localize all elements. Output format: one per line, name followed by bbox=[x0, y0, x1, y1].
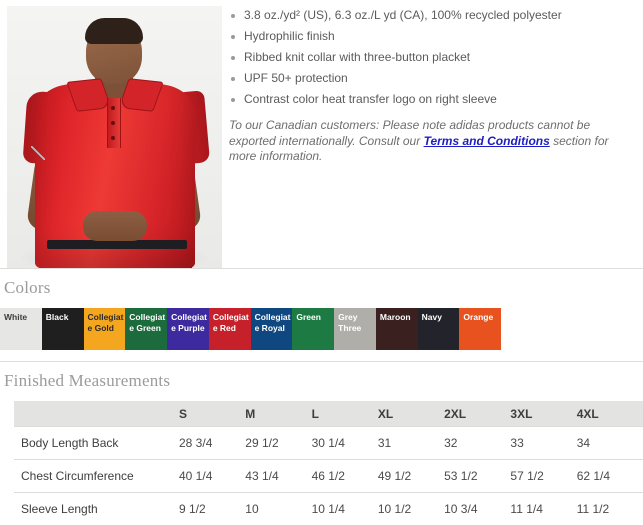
swatch-label: Collegiate Red bbox=[213, 312, 250, 333]
color-swatch-navy[interactable]: Navy bbox=[418, 308, 460, 350]
cell: 57 1/2 bbox=[510, 460, 576, 493]
swatch-label: Collegiate Green bbox=[129, 312, 166, 333]
cell: 46 1/2 bbox=[312, 460, 378, 493]
list-item: UPF 50+ protection bbox=[229, 71, 635, 86]
list-item: Ribbed knit collar with three-button pla… bbox=[229, 50, 635, 65]
color-swatch-maroon[interactable]: Maroon bbox=[376, 308, 418, 350]
row-label: Sleeve Length bbox=[14, 493, 179, 525]
color-swatch-black[interactable]: Black bbox=[42, 308, 84, 350]
swatch-label: Collegiate Purple bbox=[171, 312, 208, 333]
spacer bbox=[0, 350, 643, 361]
finished-measurements-table: S M L XL 2XL 3XL 4XL Body Length Back 28… bbox=[14, 401, 643, 525]
cell: 10 1/4 bbox=[312, 493, 378, 525]
cell: 9 1/2 bbox=[179, 493, 245, 525]
row-label: Body Length Back bbox=[14, 427, 179, 460]
column-header-l: L bbox=[312, 401, 378, 427]
cell: 33 bbox=[510, 427, 576, 460]
column-header-xl: XL bbox=[378, 401, 444, 427]
swatch-label: White bbox=[4, 312, 41, 323]
color-swatch-collegiate-royal[interactable]: Collegiate Royal bbox=[251, 308, 293, 350]
terms-and-conditions-link[interactable]: Terms and Conditions bbox=[424, 134, 550, 148]
color-swatch-collegiate-gold[interactable]: Collegiate Gold bbox=[84, 308, 126, 350]
cell: 10 bbox=[245, 493, 311, 525]
model-belt bbox=[47, 240, 187, 249]
row-label: Chest Circumference bbox=[14, 460, 179, 493]
cell: 29 1/2 bbox=[245, 427, 311, 460]
column-header-2xl: 2XL bbox=[444, 401, 510, 427]
canadian-customers-note: To our Canadian customers: Please note a… bbox=[229, 118, 635, 165]
product-image[interactable] bbox=[7, 6, 222, 268]
list-item: Hydrophilic finish bbox=[229, 29, 635, 44]
swatch-label: Grey Three bbox=[338, 312, 375, 333]
color-swatch-white[interactable]: White bbox=[0, 308, 42, 350]
cell: 30 1/4 bbox=[312, 427, 378, 460]
swatch-label: Collegiate Gold bbox=[88, 312, 125, 333]
adidas-logo-icon bbox=[31, 146, 45, 160]
color-swatch-row: White Black Collegiate Gold Collegiate G… bbox=[0, 308, 543, 350]
table-header: S M L XL 2XL 3XL 4XL bbox=[14, 401, 643, 427]
cell: 31 bbox=[378, 427, 444, 460]
color-swatch-orange[interactable]: Orange bbox=[459, 308, 501, 350]
cell: 43 1/4 bbox=[245, 460, 311, 493]
column-header-3xl: 3XL bbox=[510, 401, 576, 427]
product-overview-section: 3.8 oz./yd² (US), 6.3 oz./L yd (CA), 100… bbox=[0, 0, 643, 268]
polo-button-3 bbox=[111, 136, 115, 140]
color-swatch-grey-three[interactable]: Grey Three bbox=[334, 308, 376, 350]
table-row: Sleeve Length 9 1/2 10 10 1/4 10 1/2 10 … bbox=[14, 493, 643, 525]
feature-list: 3.8 oz./yd² (US), 6.3 oz./L yd (CA), 100… bbox=[229, 8, 635, 107]
table-row: Body Length Back 28 3/4 29 1/2 30 1/4 31… bbox=[14, 427, 643, 460]
model-hair bbox=[85, 18, 143, 44]
cell: 40 1/4 bbox=[179, 460, 245, 493]
polo-button-2 bbox=[111, 121, 115, 125]
measurements-heading: Finished Measurements bbox=[0, 362, 643, 401]
cell: 34 bbox=[577, 427, 643, 460]
cell: 28 3/4 bbox=[179, 427, 245, 460]
polo-button-1 bbox=[111, 106, 115, 110]
product-details-column: 3.8 oz./yd² (US), 6.3 oz./L yd (CA), 100… bbox=[222, 0, 643, 177]
swatch-label: Collegiate Royal bbox=[255, 312, 292, 333]
cell: 11 1/4 bbox=[510, 493, 576, 525]
color-swatch-green[interactable]: Green bbox=[292, 308, 334, 350]
cell: 11 1/2 bbox=[577, 493, 643, 525]
swatch-label: Green bbox=[296, 312, 333, 323]
swatch-label: Navy bbox=[422, 312, 459, 323]
swatch-label: Orange bbox=[463, 312, 500, 323]
color-swatch-collegiate-green[interactable]: Collegiate Green bbox=[125, 308, 167, 350]
swatch-label: Black bbox=[46, 312, 83, 323]
cell: 10 3/4 bbox=[444, 493, 510, 525]
color-swatch-collegiate-red[interactable]: Collegiate Red bbox=[209, 308, 251, 350]
list-item: Contrast color heat transfer logo on rig… bbox=[229, 92, 635, 107]
table-header-row: S M L XL 2XL 3XL 4XL bbox=[14, 401, 643, 427]
cell: 10 1/2 bbox=[378, 493, 444, 525]
cell: 53 1/2 bbox=[444, 460, 510, 493]
table-body: Body Length Back 28 3/4 29 1/2 30 1/4 31… bbox=[14, 427, 643, 525]
cell: 49 1/2 bbox=[378, 460, 444, 493]
column-header-m: M bbox=[245, 401, 311, 427]
list-item: 3.8 oz./yd² (US), 6.3 oz./L yd (CA), 100… bbox=[229, 8, 635, 23]
column-header-s: S bbox=[179, 401, 245, 427]
cell: 32 bbox=[444, 427, 510, 460]
color-swatch-collegiate-purple[interactable]: Collegiate Purple bbox=[167, 308, 209, 350]
swatch-label: Maroon bbox=[380, 312, 417, 323]
model-hands bbox=[83, 211, 147, 241]
cell: 62 1/4 bbox=[577, 460, 643, 493]
column-header-blank bbox=[14, 401, 179, 427]
colors-heading: Colors bbox=[0, 269, 643, 308]
table-row: Chest Circumference 40 1/4 43 1/4 46 1/2… bbox=[14, 460, 643, 493]
column-header-4xl: 4XL bbox=[577, 401, 643, 427]
